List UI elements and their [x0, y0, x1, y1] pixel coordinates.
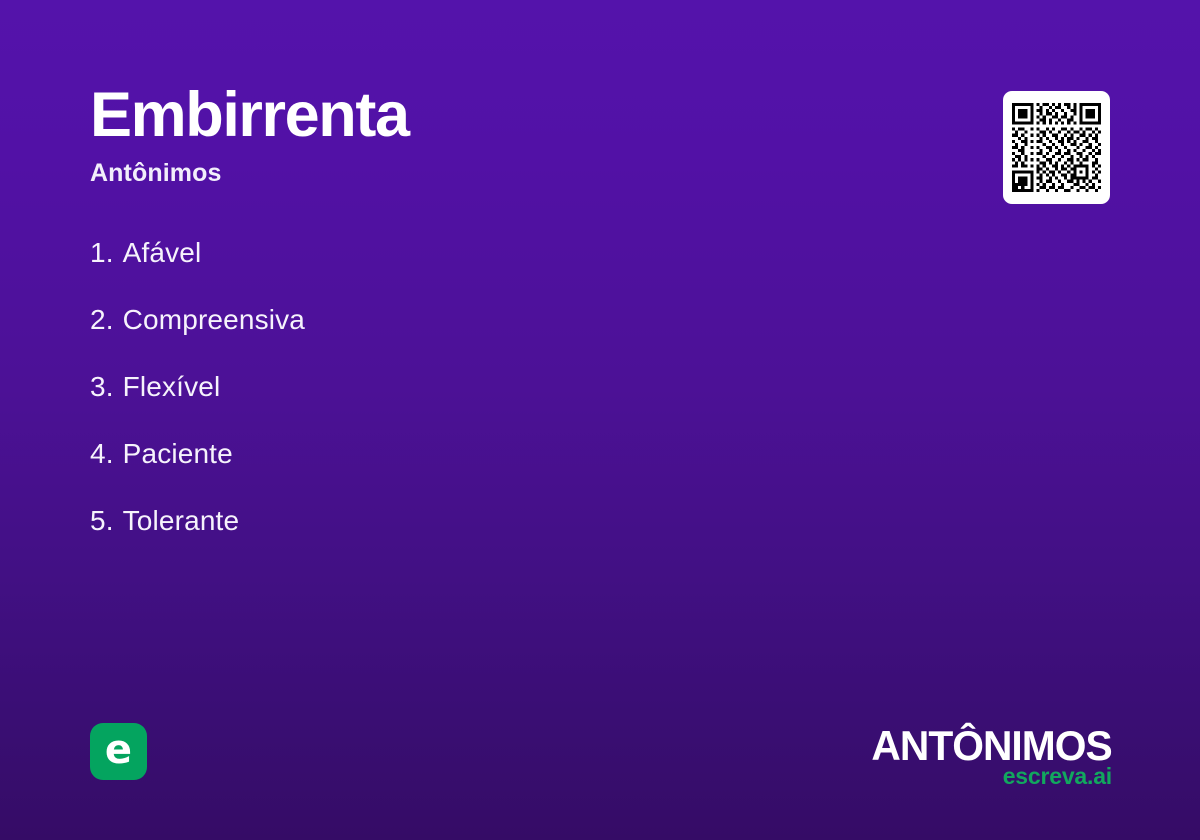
header: Embirrenta Antônimos [90, 84, 910, 188]
page-subtitle: Antônimos [90, 160, 910, 188]
list-item-number: 5. [90, 505, 114, 537]
list-item-number: 4. [90, 438, 114, 470]
list-item: 1. Afável [90, 237, 850, 304]
qr-code-icon [1012, 103, 1101, 192]
list-item: 2. Compreensiva [90, 304, 850, 371]
list-item-word: Afável [123, 237, 202, 269]
list-item-word: Tolerante [123, 505, 240, 537]
list-item-number: 2. [90, 304, 114, 336]
escreva-e-logo-icon[interactable]: e [90, 723, 147, 780]
list-item: 5. Tolerante [90, 505, 850, 572]
list-item-word: Compreensiva [123, 304, 305, 336]
list-item-number: 3. [90, 371, 114, 403]
qr-code-panel[interactable] [1003, 91, 1110, 204]
antonym-list: 1. Afável 2. Compreensiva 3. Flexível 4.… [90, 237, 850, 572]
brand-badge-glyph: e [105, 730, 132, 770]
brand-wordmark-main: ANTÔNIMOS [872, 728, 1112, 764]
list-item: 3. Flexível [90, 371, 850, 438]
list-item: 4. Paciente [90, 438, 850, 505]
brand-wordmark[interactable]: ANTÔNIMOS escreva.ai [864, 728, 1112, 788]
list-item-word: Paciente [123, 438, 233, 470]
page-title: Embirrenta [90, 84, 910, 147]
antonyms-card: Embirrenta Antônimos 1. Afável 2. Compre… [0, 0, 1200, 840]
list-item-word: Flexível [123, 371, 221, 403]
list-item-number: 1. [90, 237, 114, 269]
